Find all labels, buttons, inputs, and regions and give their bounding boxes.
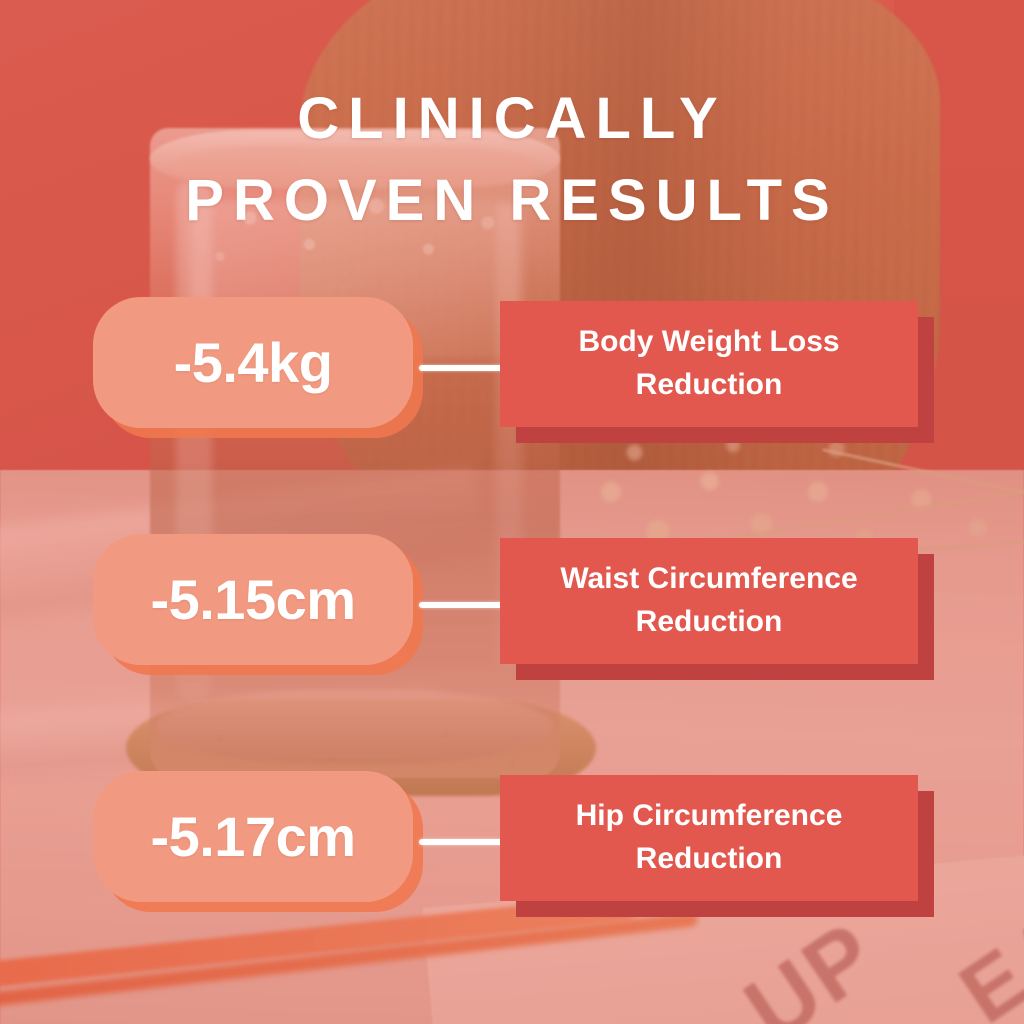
result-value-badge[interactable]: -5.17cm <box>93 771 413 902</box>
result-label-line-1: Body Weight Loss <box>578 325 839 358</box>
infographic-canvas: UP EA CLINICALLY PROVEN RESULTS -5.4kg B… <box>0 0 1024 1024</box>
result-value: -5.15cm <box>150 567 355 632</box>
connector-line <box>419 602 503 608</box>
result-label-box[interactable]: Hip Circumference Reduction <box>500 775 918 901</box>
result-label-box[interactable]: Waist Circumference Reduction <box>500 538 918 664</box>
result-label-line-2: Reduction <box>636 605 783 638</box>
result-value: -5.17cm <box>150 804 355 869</box>
result-value: -5.4kg <box>174 330 333 395</box>
result-row: -5.4kg Body Weight Loss Reduction <box>0 296 1024 446</box>
result-label: Body Weight Loss Reduction <box>562 321 855 406</box>
result-label: Hip Circumference Reduction <box>560 795 859 880</box>
content-layer: CLINICALLY PROVEN RESULTS -5.4kg Body We… <box>0 0 1024 1024</box>
result-label-line-1: Waist Circumference <box>560 562 857 595</box>
result-label: Waist Circumference Reduction <box>544 558 873 643</box>
result-value-badge[interactable]: -5.15cm <box>93 534 413 665</box>
result-row: -5.17cm Hip Circumference Reduction <box>0 770 1024 920</box>
result-label-line-1: Hip Circumference <box>576 799 843 832</box>
connector-line <box>419 365 503 371</box>
result-label-line-2: Reduction <box>636 842 783 875</box>
result-row: -5.15cm Waist Circumference Reduction <box>0 533 1024 683</box>
connector-line <box>419 839 503 845</box>
result-value-badge[interactable]: -5.4kg <box>93 297 413 428</box>
page-title: CLINICALLY PROVEN RESULTS <box>0 78 1024 243</box>
result-label-box[interactable]: Body Weight Loss Reduction <box>500 301 918 427</box>
result-label-line-2: Reduction <box>636 368 783 401</box>
title-line-2: PROVEN RESULTS <box>0 160 1024 242</box>
title-line-1: CLINICALLY <box>0 78 1024 160</box>
